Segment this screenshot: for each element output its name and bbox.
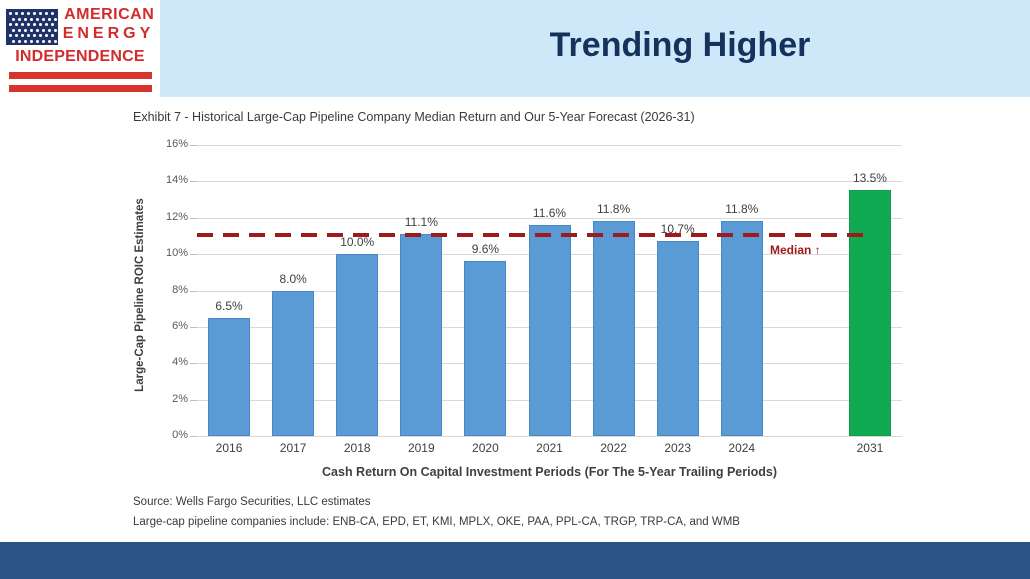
x-tick-label: 2016: [194, 441, 264, 455]
y-tick-label: 2%: [148, 393, 188, 405]
y-tick-mark: [190, 327, 197, 328]
bar-2019: [400, 234, 442, 436]
y-axis-title: Large-Cap Pipeline ROIC Estimates: [130, 150, 150, 440]
x-tick-label: 2017: [258, 441, 328, 455]
source-note: Source: Wells Fargo Securities, LLC esti…: [133, 496, 371, 508]
y-tick-mark: [190, 254, 197, 255]
x-tick-label: 2031: [835, 441, 905, 455]
y-tick-mark: [190, 218, 197, 219]
bar-2017: [272, 291, 314, 437]
footer-band: [0, 542, 1030, 579]
y-tick-label: 4%: [148, 356, 188, 368]
bar-value-label: 10.0%: [322, 235, 392, 249]
median-reference-line: [197, 233, 865, 237]
y-tick-mark: [190, 291, 197, 292]
y-tick-label: 6%: [148, 320, 188, 332]
bar-value-label: 6.5%: [194, 299, 264, 313]
y-tick-label: 16%: [148, 138, 188, 150]
bar-2031: [849, 190, 891, 436]
bar-value-label: 11.8%: [707, 202, 777, 216]
y-tick-label: 14%: [148, 174, 188, 186]
y-tick-mark: [190, 181, 197, 182]
y-tick-label: 10%: [148, 247, 188, 259]
bar-value-label: 13.5%: [835, 171, 905, 185]
y-tick-label: 8%: [148, 284, 188, 296]
bar-2023: [657, 241, 699, 436]
gridline: [197, 436, 902, 437]
y-tick-label: 0%: [148, 429, 188, 441]
bar-value-label: 9.6%: [450, 242, 520, 256]
exhibit-caption: Exhibit 7 - Historical Large-Cap Pipelin…: [133, 110, 695, 124]
x-tick-label: 2018: [322, 441, 392, 455]
x-axis-title: Cash Return On Capital Investment Period…: [197, 465, 902, 479]
x-tick-label: 2024: [707, 441, 777, 455]
y-tick-mark: [190, 436, 197, 437]
x-tick-label: 2019: [386, 441, 456, 455]
bar-value-label: 11.1%: [386, 215, 456, 229]
gridline: [197, 181, 902, 182]
bar-value-label: 11.6%: [515, 206, 585, 220]
median-label: Median ↑: [770, 243, 821, 257]
bar-2020: [464, 261, 506, 436]
x-tick-label: 2020: [450, 441, 520, 455]
bar-value-label: 11.8%: [579, 202, 649, 216]
chart-area: Exhibit 7 - Historical Large-Cap Pipelin…: [0, 0, 1030, 579]
y-axis-title-text: Large-Cap Pipeline ROIC Estimates: [134, 198, 146, 392]
y-tick-mark: [190, 400, 197, 401]
companies-note: Large-cap pipeline companies include: EN…: [133, 516, 740, 528]
x-tick-label: 2023: [643, 441, 713, 455]
gridline: [197, 145, 902, 146]
bar-value-label: 8.0%: [258, 272, 328, 286]
x-tick-label: 2022: [579, 441, 649, 455]
bar-2024: [721, 221, 763, 436]
y-tick-label: 12%: [148, 211, 188, 223]
bar-2016: [208, 318, 250, 436]
y-tick-mark: [190, 145, 197, 146]
bar-2021: [529, 225, 571, 436]
bar-2022: [593, 221, 635, 436]
bar-2018: [336, 254, 378, 436]
y-tick-mark: [190, 363, 197, 364]
x-tick-label: 2021: [515, 441, 585, 455]
